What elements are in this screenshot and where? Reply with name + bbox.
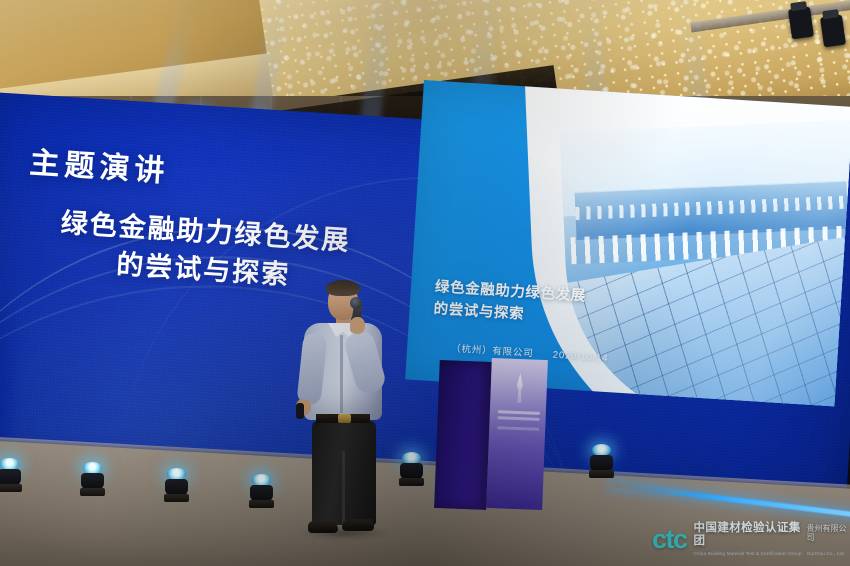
- watermark-branch-en: Guizhou Co., Ltd.: [807, 551, 845, 556]
- ceiling-spotlight-icon: [820, 15, 846, 48]
- conference-stage-photo: 主题演讲 绿色金融助力绿色发展 的尝试与探索 绿色金融助力绿色发展 的尝试与探索…: [0, 0, 850, 566]
- floor-moving-light-icon: [398, 452, 425, 486]
- slide-subtitle-date: 2020/10/14: [552, 350, 608, 364]
- floor-moving-light-icon: [79, 462, 106, 496]
- podium: [434, 356, 548, 512]
- presentation-clicker-icon: [296, 403, 304, 419]
- floor-moving-light-icon: [248, 474, 275, 508]
- ctc-logo: ctc: [652, 526, 687, 553]
- podium-sheen: [486, 358, 548, 510]
- floor-moving-light-icon: [0, 458, 23, 492]
- speaker-leg-seam: [342, 451, 345, 525]
- watermark-branch-cn: 贵州有限公司: [806, 524, 850, 542]
- speaker-belt-buckle: [338, 414, 351, 423]
- ceiling-spotlight-icon: [788, 7, 814, 40]
- speaker-shoe-left: [308, 521, 338, 533]
- watermark: ctc 中国建材检验认证集团 贵州有限公司 China Building Mat…: [652, 522, 850, 556]
- main-screen-title-block: 主题演讲 绿色金融助力绿色发展 的尝试与探索: [22, 147, 390, 301]
- watermark-name-en: China Building Material Test & Certifica…: [694, 551, 802, 556]
- watermark-name-cn: 中国建材检验认证集团: [694, 522, 802, 548]
- podium-side-panel: [434, 360, 492, 510]
- microphone-head-icon: [350, 297, 362, 309]
- speaker-hand-right: [350, 317, 365, 334]
- speaker-hair: [326, 280, 360, 296]
- speaker-shirt-placket: [340, 335, 343, 413]
- watermark-text: 中国建材检验认证集团 贵州有限公司 China Building Materia…: [694, 522, 850, 556]
- floor-moving-light-icon: [588, 444, 615, 478]
- floor-moving-light-icon: [163, 468, 190, 502]
- speaker-person: [292, 283, 396, 535]
- speaker-shoe-right: [342, 519, 374, 531]
